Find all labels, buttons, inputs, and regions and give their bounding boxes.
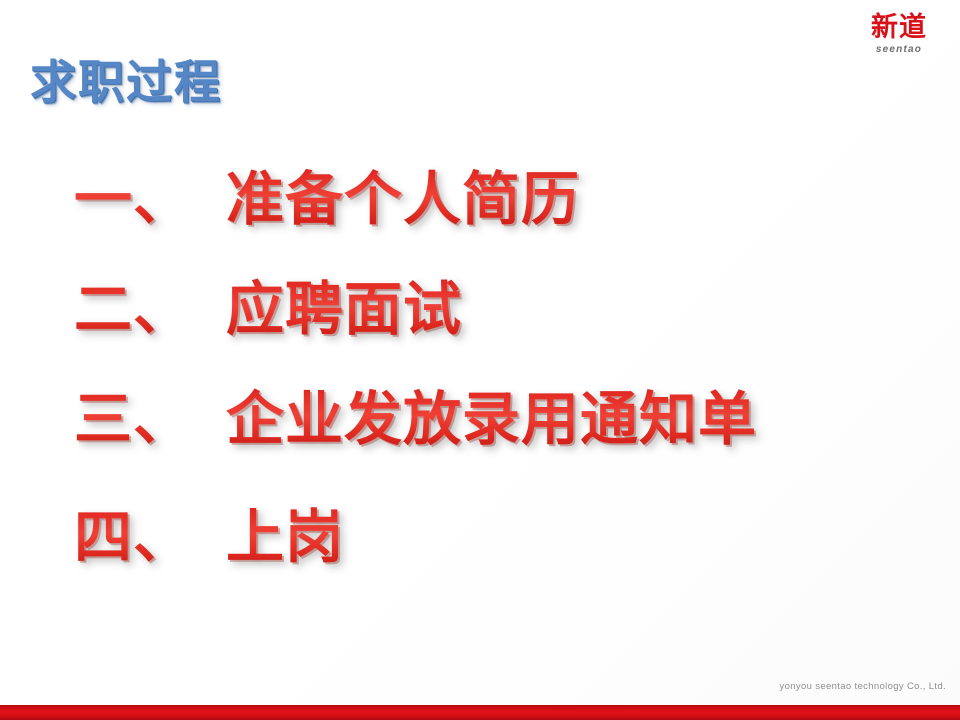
- list-item-number: 二、: [74, 262, 192, 346]
- footer-accent-bar: [0, 705, 960, 720]
- list-item-label: 准备个人简历: [226, 152, 580, 236]
- list-item-label: 应聘面试: [226, 262, 462, 346]
- list-item-number: 四、: [74, 490, 192, 574]
- list-item: 二、 应聘面试: [0, 262, 960, 372]
- list-item: 一、 准备个人简历: [0, 152, 960, 262]
- brand-logo-chinese: 新道: [856, 14, 942, 42]
- slide-canvas: 新道 seentao 求职过程 一、 准备个人简历 二、 应聘面试 三、 企业发…: [0, 0, 960, 720]
- list-item-label: 企业发放录用通知单: [226, 372, 757, 456]
- footer-copyright: yonyou seentao technology Co., Ltd.: [780, 681, 946, 692]
- brand-logo-latin: seentao: [856, 45, 942, 55]
- list-item-number: 三、: [74, 372, 192, 456]
- list-item-number: 一、: [74, 152, 192, 236]
- brand-logo: 新道 seentao: [856, 14, 942, 55]
- list-item-label: 上岗: [226, 490, 344, 574]
- list-item: 四、 上岗: [0, 490, 960, 600]
- process-step-list: 一、 准备个人简历 二、 应聘面试 三、 企业发放录用通知单 四、 上岗: [0, 152, 960, 600]
- page-title: 求职过程: [30, 46, 222, 112]
- list-item: 三、 企业发放录用通知单: [0, 372, 960, 482]
